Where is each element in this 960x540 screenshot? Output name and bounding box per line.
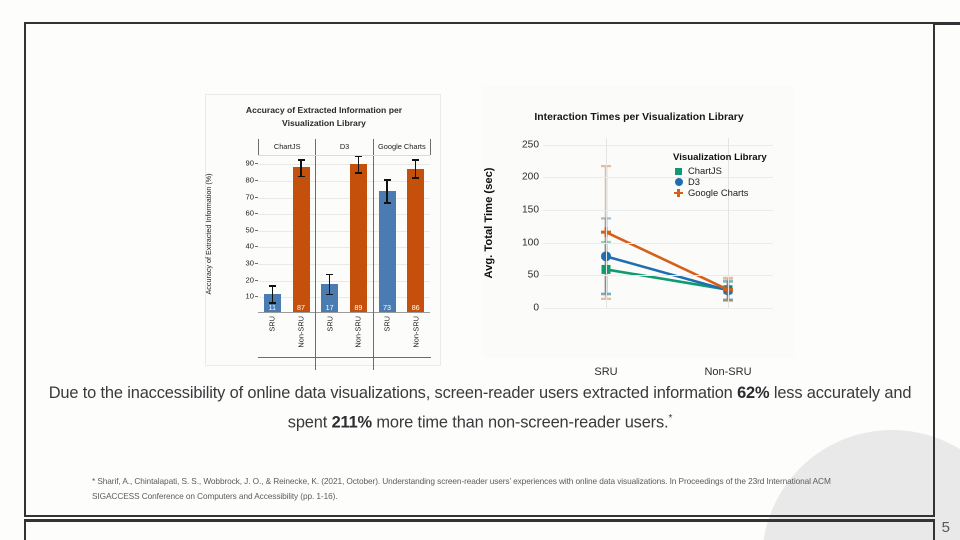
slide-frame-top-extension bbox=[933, 22, 960, 25]
interaction-y-tick-label: 100 bbox=[505, 237, 539, 248]
accuracy-y-tick-label: 30 bbox=[220, 259, 254, 268]
accuracy-y-tick-label: 40 bbox=[220, 242, 254, 251]
interaction-legend-title: Visualization Library bbox=[673, 152, 803, 163]
interaction-gridline bbox=[543, 145, 773, 146]
interaction-vgrid-sru bbox=[606, 138, 607, 308]
interaction-x-tick-label: SRU bbox=[561, 366, 651, 378]
accuracy-bars: 118717897386 bbox=[258, 156, 430, 312]
slide-caption: Due to the inaccessibility of online dat… bbox=[48, 381, 912, 435]
accuracy-y-tick-label: 50 bbox=[220, 225, 254, 234]
accuracy-plot-area: 118717897386 bbox=[258, 155, 430, 313]
accuracy-bar[interactable]: 86 bbox=[407, 169, 424, 312]
accuracy-chart-title: Accuracy of Extracted Information per Vi… bbox=[214, 104, 434, 129]
accuracy-group-label-d3: D3 bbox=[315, 139, 373, 155]
accuracy-x-label-slot: SRU bbox=[258, 314, 287, 358]
accuracy-chart-title-line1: Accuracy of Extracted Information per bbox=[214, 104, 434, 117]
accuracy-x-tick-label: SRU bbox=[325, 316, 334, 332]
accuracy-x-tick-label: SRU bbox=[268, 316, 277, 332]
interaction-chart-title: Interaction Times per Visualization Libr… bbox=[483, 112, 795, 123]
page-number: 5 bbox=[942, 519, 950, 536]
accuracy-bar[interactable]: 73 bbox=[379, 191, 396, 312]
accuracy-x-tick-label: Non-SRU bbox=[354, 316, 363, 348]
interaction-y-tick-label: 150 bbox=[505, 204, 539, 215]
accuracy-x-label-slot: SRU bbox=[315, 314, 344, 358]
accuracy-y-axis-label: Accuracy of Extracted Information (%) bbox=[204, 155, 213, 313]
accuracy-x-label-slot: Non-SRU bbox=[401, 314, 430, 358]
accuracy-bar-slot: 17 bbox=[315, 156, 344, 312]
interaction-x-tick-label: Non-SRU bbox=[683, 366, 773, 378]
legend-circle-icon bbox=[673, 176, 684, 187]
accuracy-bar[interactable]: 11 bbox=[264, 294, 281, 312]
slide-canvas: 5 Accuracy of Extracted Information per … bbox=[0, 0, 960, 540]
caption-stat-time: 211% bbox=[332, 413, 372, 431]
accuracy-group-label-google-charts: Google Charts bbox=[373, 139, 431, 155]
interaction-legend-label-chartjs: ChartJS bbox=[688, 165, 722, 176]
charts-container: Accuracy of Extracted Information per Vi… bbox=[24, 86, 935, 374]
accuracy-bar-value-label: 86 bbox=[407, 303, 424, 312]
accuracy-bar[interactable]: 89 bbox=[350, 164, 367, 312]
accuracy-x-axis-labels: SRUNon-SRUSRUNon-SRUSRUNon-SRU bbox=[258, 314, 430, 358]
caption-line1: Due to the inaccessibility of online dat… bbox=[49, 384, 733, 402]
legend-square-icon bbox=[673, 165, 684, 176]
accuracy-y-tick-label: 60 bbox=[220, 209, 254, 218]
accuracy-y-tick-label: 20 bbox=[220, 275, 254, 284]
accuracy-y-tick-label: 70 bbox=[220, 192, 254, 201]
interaction-y-axis-label: Avg. Total Time (sec) bbox=[483, 138, 495, 308]
interaction-gridline bbox=[543, 308, 773, 309]
accuracy-error-bar bbox=[358, 156, 360, 174]
interaction-y-tick-label: 0 bbox=[505, 303, 539, 314]
interaction-legend-label-d3: D3 bbox=[688, 176, 700, 187]
legend-plus-icon bbox=[673, 187, 684, 198]
accuracy-group-label-chartjs: ChartJS bbox=[258, 139, 316, 155]
slide-frame-lower-top-edge bbox=[24, 519, 935, 522]
accuracy-x-tick-label: Non-SRU bbox=[297, 316, 306, 348]
interaction-legend-item-d3: D3 bbox=[673, 176, 803, 187]
caption-stat-accuracy: 62% bbox=[737, 384, 769, 402]
accuracy-error-bar bbox=[300, 159, 302, 177]
accuracy-bar[interactable]: 87 bbox=[293, 167, 310, 312]
slide-footnote-citation: * Sharif, A., Chintalapati, S. S., Wobbr… bbox=[92, 474, 870, 504]
accuracy-error-bar bbox=[329, 274, 331, 296]
accuracy-x-label-slot: SRU bbox=[373, 314, 402, 358]
accuracy-bar-slot: 11 bbox=[258, 156, 287, 312]
interaction-legend-label-google-charts: Google Charts bbox=[688, 187, 748, 198]
accuracy-bar-value-label: 11 bbox=[264, 303, 281, 312]
accuracy-bar-value-label: 73 bbox=[379, 303, 396, 312]
accuracy-y-tick-label: 80 bbox=[220, 175, 254, 184]
interaction-y-tick-label: 200 bbox=[505, 172, 539, 183]
accuracy-bar-chart: Accuracy of Extracted Information per Vi… bbox=[205, 94, 441, 366]
accuracy-bar[interactable]: 17 bbox=[321, 284, 338, 312]
interaction-legend-item-chartjs: ChartJS bbox=[673, 165, 803, 176]
accuracy-bar-slot: 89 bbox=[344, 156, 373, 312]
interaction-legend: Visualization Library ChartJS D3 Google … bbox=[673, 152, 803, 198]
accuracy-y-tick-label: 10 bbox=[220, 292, 254, 301]
accuracy-error-bar bbox=[415, 159, 417, 179]
accuracy-group-header-band: ChartJS D3 Google Charts bbox=[258, 139, 430, 155]
interaction-y-tick-label: 50 bbox=[505, 270, 539, 281]
accuracy-x-label-slot: Non-SRU bbox=[344, 314, 373, 358]
accuracy-chart-title-line2: Visualization Library bbox=[214, 117, 434, 130]
accuracy-x-axis-line bbox=[258, 357, 431, 358]
accuracy-bar-slot: 73 bbox=[373, 156, 402, 312]
accuracy-x-tick-label: SRU bbox=[383, 316, 392, 332]
accuracy-bar-value-label: 87 bbox=[293, 303, 310, 312]
accuracy-bar-value-label: 17 bbox=[321, 303, 338, 312]
interaction-gridline bbox=[543, 243, 773, 244]
accuracy-x-tick-label: Non-SRU bbox=[411, 316, 420, 348]
interaction-gridline bbox=[543, 275, 773, 276]
interaction-legend-item-google-charts: Google Charts bbox=[673, 187, 803, 198]
accuracy-bar-slot: 86 bbox=[401, 156, 430, 312]
accuracy-y-tick-label: 90 bbox=[220, 159, 254, 168]
accuracy-error-bar bbox=[386, 179, 388, 204]
caption-footnote-marker: * bbox=[668, 413, 672, 424]
accuracy-bar-value-label: 89 bbox=[350, 303, 367, 312]
accuracy-bar-slot: 87 bbox=[287, 156, 316, 312]
interaction-y-tick-label: 250 bbox=[505, 139, 539, 150]
interaction-times-line-chart: Interaction Times per Visualization Libr… bbox=[483, 86, 795, 358]
caption-post: more time than non-screen-reader users. bbox=[372, 413, 668, 431]
interaction-gridline bbox=[543, 210, 773, 211]
accuracy-x-label-slot: Non-SRU bbox=[287, 314, 316, 358]
accuracy-error-bar bbox=[272, 285, 274, 303]
